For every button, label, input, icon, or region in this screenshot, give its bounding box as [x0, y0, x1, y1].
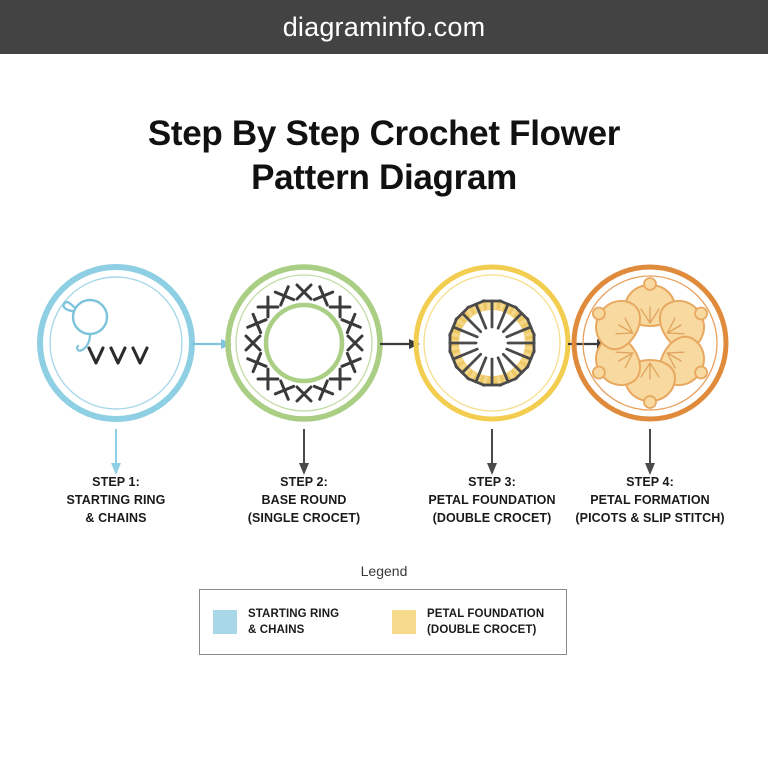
step-2-caption-line-2: BASE ROUND	[200, 492, 408, 510]
step-1-chain-symbol	[133, 348, 147, 363]
step-1-chain-symbol	[111, 348, 125, 363]
legend-items: STARTING RING & CHAINS PETAL FOUNDATION …	[200, 590, 566, 654]
page-title-line-1: Step By Step Crochet Flower	[0, 112, 768, 156]
legend-label-line-1: STARTING RING	[248, 606, 339, 622]
step-4-figure	[562, 255, 738, 431]
step-1-outer-ring	[40, 267, 192, 419]
step-3-double-crochet-symbols	[450, 301, 534, 385]
legend-title: Legend	[0, 563, 768, 579]
step-1-caption: STEP 1: STARTING RING & CHAINS	[12, 474, 220, 527]
legend-swatch-starting-ring	[213, 610, 237, 634]
legend-box: STARTING RING & CHAINS PETAL FOUNDATION …	[199, 589, 567, 655]
down-arrow-step-3	[480, 425, 504, 477]
site-header: diagraminfo.com	[0, 0, 768, 54]
step-1-caption-line-2: STARTING RING	[12, 492, 220, 510]
step-4-picot	[644, 396, 656, 408]
step-2-figure	[216, 255, 392, 431]
step-1-inner-ring	[50, 277, 182, 409]
step-1-caption-line-1: STEP 1:	[12, 474, 220, 492]
step-1-chain-symbol	[89, 348, 103, 363]
step-1-caption-line-3: & CHAINS	[12, 510, 220, 528]
step-2-caption: STEP 2: BASE ROUND (SINGLE CROCET)	[200, 474, 408, 527]
legend-item-petal-foundation: PETAL FOUNDATION (DOUBLE CROCET)	[392, 606, 566, 639]
step-captions: STEP 1: STARTING RING & CHAINS STEP 2: B…	[0, 474, 768, 534]
step-3-figure	[404, 255, 580, 431]
step-4-petals	[581, 278, 719, 408]
down-arrow-step-1	[104, 425, 128, 477]
down-arrow-step-4	[638, 425, 662, 477]
step-3-mid-ring	[424, 275, 560, 411]
step-1-slip-knot-loop	[73, 300, 107, 334]
legend-label-line-1: PETAL FOUNDATION	[427, 606, 544, 622]
legend-label-line-2: & CHAINS	[248, 622, 339, 638]
step-3-outer-ring	[416, 267, 568, 419]
step-2-caption-line-3: (SINGLE CROCET)	[200, 510, 408, 528]
step-1-figure	[28, 255, 204, 431]
step-4-caption-line-3: (PICOTS & SLIP STITCH)	[546, 510, 754, 528]
page-title-line-2: Pattern Diagram	[0, 156, 768, 200]
step-4-caption-line-1: STEP 4:	[546, 474, 754, 492]
site-brand: diagraminfo.com	[283, 12, 486, 43]
page-title: Step By Step Crochet Flower Pattern Diag…	[0, 112, 768, 201]
step-2-caption-line-1: STEP 2:	[200, 474, 408, 492]
legend-label-line-2: (DOUBLE CROCET)	[427, 622, 544, 638]
step-2-center-ring	[266, 305, 342, 381]
legend-label-starting-ring: STARTING RING & CHAINS	[248, 606, 339, 639]
diagram-flow	[0, 255, 768, 455]
legend-label-petal-foundation: PETAL FOUNDATION (DOUBLE CROCET)	[427, 606, 544, 639]
step-2-outer-ring	[228, 267, 380, 419]
step-4-caption: STEP 4: PETAL FORMATION (PICOTS & SLIP S…	[546, 474, 754, 527]
step-2-single-crochet-symbols	[246, 285, 362, 401]
step-1-yarn-tail	[63, 302, 74, 311]
step-2-mid-ring	[236, 275, 372, 411]
step-4-caption-line-2: PETAL FORMATION	[546, 492, 754, 510]
legend-item-starting-ring: STARTING RING & CHAINS	[200, 606, 392, 639]
legend-swatch-petal-foundation	[392, 610, 416, 634]
step-4-picot	[644, 278, 656, 290]
down-arrow-step-2	[292, 425, 316, 477]
